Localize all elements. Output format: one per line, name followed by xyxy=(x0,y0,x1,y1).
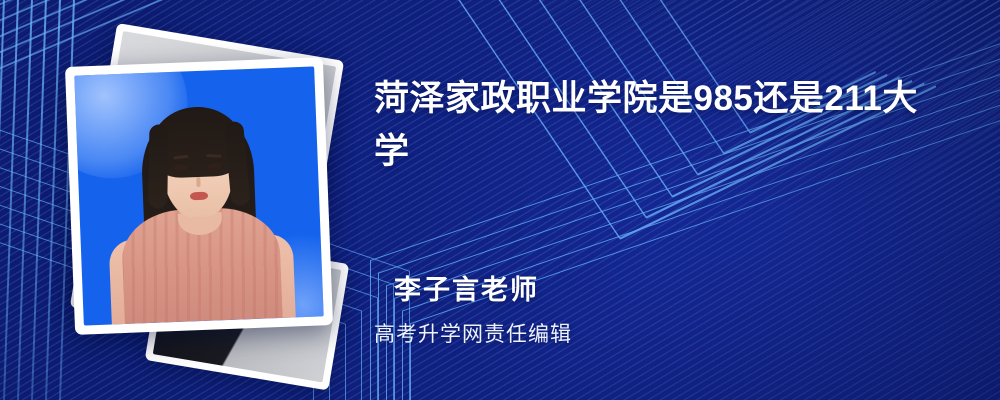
portrait-hair-front xyxy=(150,105,245,178)
article-title: 菏泽家政职业学院是985还是211大学 xyxy=(374,72,952,178)
author-role: 高考升学网责任编辑 xyxy=(374,318,572,348)
portrait-nose xyxy=(196,177,200,187)
portrait-figure xyxy=(74,66,323,325)
portrait-mouth xyxy=(190,192,208,201)
author-photo-card xyxy=(65,57,333,335)
author-name: 李子言老师 xyxy=(394,268,539,307)
banner-text-panel: 菏泽家政职业学院是985还是211大学 李子言老师 高考升学网责任编辑 xyxy=(374,0,974,400)
article-header-banner: 菏泽家政职业学院是985还是211大学 李子言老师 高考升学网责任编辑 xyxy=(0,0,1000,400)
photo-stack xyxy=(58,38,358,368)
author-portrait-photo xyxy=(74,66,323,325)
portrait-dress xyxy=(121,206,283,324)
